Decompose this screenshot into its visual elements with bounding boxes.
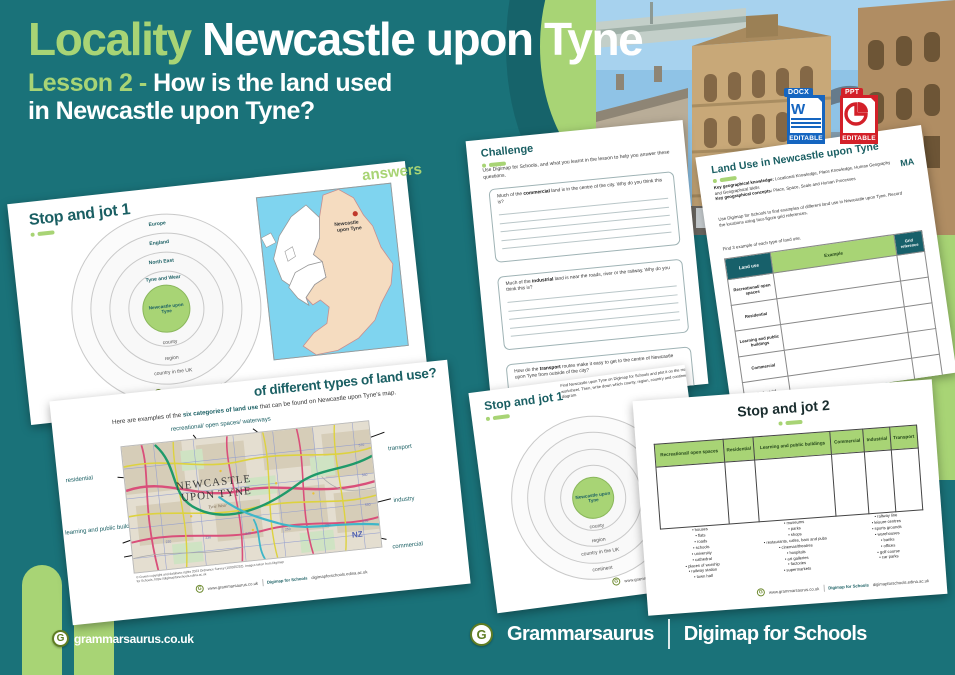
accent-marker: [486, 414, 510, 421]
poster-title-block: Locality Newcastle upon Tyne Lesson 2 - …: [28, 16, 642, 126]
svg-text:270: 270: [362, 519, 368, 524]
svg-text:570: 570: [358, 443, 364, 448]
svg-text:NZ: NZ: [351, 530, 363, 540]
annotation-industry: industry: [393, 496, 415, 504]
ordnance-survey-map-image: NEWCASTLE UPON TYNE Tyne Wear NZ 2202302…: [120, 420, 382, 573]
decorative-bar-left-1: [22, 565, 62, 675]
word-list-column-3: railway line leisure centres sports grou…: [871, 512, 904, 567]
ability-level-label: MA: [900, 156, 915, 168]
sheet-footer-digimap-url: digimapforschools.edina.ac.uk: [311, 569, 368, 580]
grammarsaurus-logo-icon: G: [52, 630, 69, 647]
answer-cell[interactable]: [656, 462, 729, 529]
grammarsaurus-logo-icon: G: [195, 584, 204, 593]
ring-core-label: Newcastle upon Tyne: [143, 301, 190, 316]
column-header-industrial: Industrial: [863, 427, 891, 451]
worksheet-land-use-newcastle[interactable]: Land Use in Newcastle upon Tyne MA Key g…: [695, 125, 955, 405]
question-pre: Much of the: [497, 192, 524, 200]
sheet-footer-digimap: Digimap for Schools: [267, 575, 308, 584]
ppt-tag-label: PPT: [841, 88, 863, 97]
list-item: car parks: [874, 553, 904, 561]
sheet-footer: G www.grammarsaurus.co.uk Digimap for Sc…: [757, 576, 930, 597]
accent-marker: [778, 420, 802, 426]
subtitle-line-2: in Newcastle upon Tyne?: [28, 97, 315, 125]
footer-brand-left[interactable]: G grammarsaurus.co.uk: [52, 630, 194, 647]
column-header-commercial: Commercial: [830, 429, 864, 454]
worksheet-stop-and-jot-2[interactable]: Stop and jot 2 Recreational/ open spaces…: [633, 379, 948, 615]
pie-chart-icon: [844, 102, 874, 128]
page-subtitle: Lesson 2 - How is the land used in Newca…: [28, 69, 642, 126]
file-format-badges: W DOCX EDITABLE PPT EDITABLE: [784, 88, 881, 144]
svg-text:560: 560: [362, 473, 368, 478]
svg-text:240: 240: [245, 531, 251, 536]
answer-cell[interactable]: [832, 451, 869, 515]
grammarsaurus-logo-icon: G: [757, 588, 766, 597]
sheet-footer-digimap: Digimap for Schools: [828, 582, 869, 590]
word-icon: W: [791, 102, 821, 128]
title-rest: Newcastle upon Tyne: [202, 13, 642, 65]
footer-brand-row: G Grammarsaurus Digimap for Schools: [470, 619, 867, 649]
answer-cell[interactable]: [724, 459, 759, 523]
answer-cell[interactable]: [755, 454, 836, 521]
page-title: Locality Newcastle upon Tyne: [28, 16, 642, 63]
footer-brand-name: Grammarsaurus: [507, 623, 654, 646]
word-list-column-2: museums parks shops restaurants, cafes, …: [762, 517, 829, 575]
row-gridref-cell[interactable]: [897, 251, 928, 281]
title-accent: Locality: [28, 13, 191, 65]
uk-outline-map: Newcastle upon Tyne: [256, 183, 409, 361]
grammarsaurus-logo-icon: G: [612, 577, 621, 586]
accent-marker: [30, 230, 54, 237]
worksheet-types-of-land-use[interactable]: of different types of land use? Here are…: [49, 360, 470, 626]
docx-tag-label: DOCX: [784, 88, 813, 97]
subtitle-accent: Lesson 2 -: [28, 69, 147, 97]
subtitle-line-1: How is the land used: [153, 69, 392, 97]
annotation-learning-public-buildings: learning and public buildings: [65, 525, 121, 538]
ring-core-label: Newcastle upon Tyne: [573, 490, 614, 506]
ppt-editable-label: EDITABLE: [840, 133, 878, 144]
docx-badge[interactable]: W DOCX EDITABLE: [784, 88, 828, 144]
svg-text:550: 550: [365, 503, 371, 508]
column-header-transport: Transport: [889, 425, 918, 449]
ppt-badge[interactable]: PPT EDITABLE: [837, 88, 881, 144]
sheet-footer-digimap-url: digimapforschools.edina.ac.uk: [873, 578, 930, 587]
footer-partner-name: Digimap for Schools: [684, 623, 867, 646]
annotation-transport: transport: [388, 444, 412, 452]
svg-text:260: 260: [325, 523, 331, 528]
svg-text:230: 230: [205, 535, 211, 540]
annotation-residential: residential: [65, 475, 93, 484]
grammarsaurus-logo-icon: G: [470, 623, 493, 646]
subtitle-bold: six categories of land use: [183, 404, 259, 419]
subtitle-pre: Here are examples of the: [112, 412, 184, 426]
answer-cell[interactable]: [891, 447, 923, 511]
svg-text:250: 250: [285, 527, 291, 532]
row-gridref-cell[interactable]: [901, 277, 932, 307]
svg-text:220: 220: [165, 540, 171, 545]
annotation-commercial: commercial: [392, 541, 423, 550]
land-use-table[interactable]: Land use Example Grid reference Recreati…: [724, 230, 944, 405]
docx-editable-label: EDITABLE: [787, 133, 825, 144]
question-bold: industrial: [532, 277, 554, 284]
word-list-column-1: houses flats roads schools university ca…: [683, 525, 721, 581]
question-text: Much of the industrial land is near the …: [506, 265, 676, 294]
divider: [668, 619, 670, 649]
worksheet-title: Stop and jot 1: [483, 389, 563, 413]
challenge-question-1[interactable]: Much of the commercial land is in the ce…: [488, 171, 680, 263]
poster-canvas: Locality Newcastle upon Tyne Lesson 2 - …: [0, 0, 955, 675]
question-bold: commercial: [523, 189, 550, 197]
row-gridref-cell[interactable]: [904, 303, 935, 333]
row-gridref-cell[interactable]: [908, 329, 939, 359]
footer-website: grammarsaurus.co.uk: [74, 632, 194, 646]
question-text: Much of the commercial land is in the ce…: [497, 178, 667, 207]
worksheet-title: Challenge: [480, 143, 533, 160]
sheet-footer-web: www.grammarsaurus.co.uk: [207, 580, 258, 590]
challenge-question-2[interactable]: Much of the industrial land is near the …: [497, 259, 689, 351]
sheet-footer-web: www.grammarsaurus.co.uk: [769, 586, 820, 595]
column-header-residential: Residential: [723, 437, 755, 462]
worksheet-challenge[interactable]: Challenge Use Digimap for Schools, and w…: [466, 120, 709, 405]
